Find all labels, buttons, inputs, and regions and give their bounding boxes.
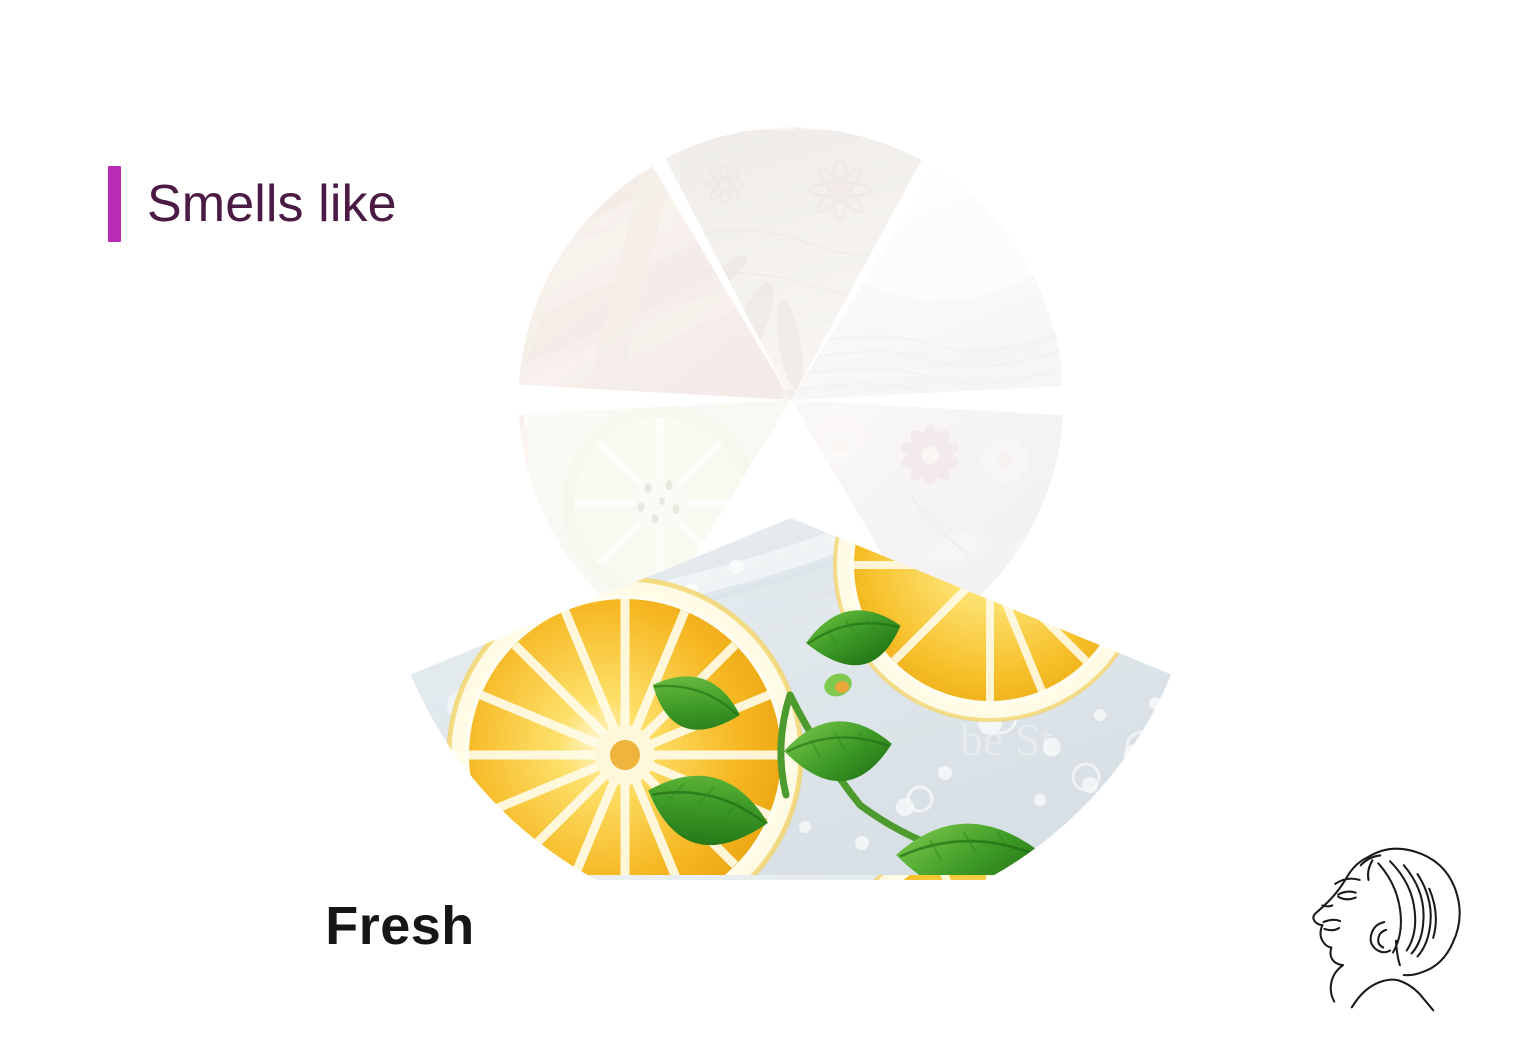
pie-slice-vanilla [780, 140, 1100, 440]
selected-scent-label: Fresh [325, 895, 475, 957]
pie-slice-fruity [500, 390, 820, 670]
pie-slice-fresh-highlighted [390, 450, 1190, 880]
page-title-block: Smells like [108, 166, 397, 242]
pie-slice-floral [780, 390, 1100, 670]
pie-slice-spicy [640, 120, 970, 450]
pie-slice-woody [480, 120, 840, 450]
scent-wheel-chart: be St [0, 0, 1522, 1051]
selected-scent-label-wrap: Fresh [0, 895, 1522, 957]
page-title: Smells like [147, 178, 397, 230]
face-profile-smelling-icon [1296, 828, 1492, 1024]
title-accent-bar [108, 166, 121, 242]
